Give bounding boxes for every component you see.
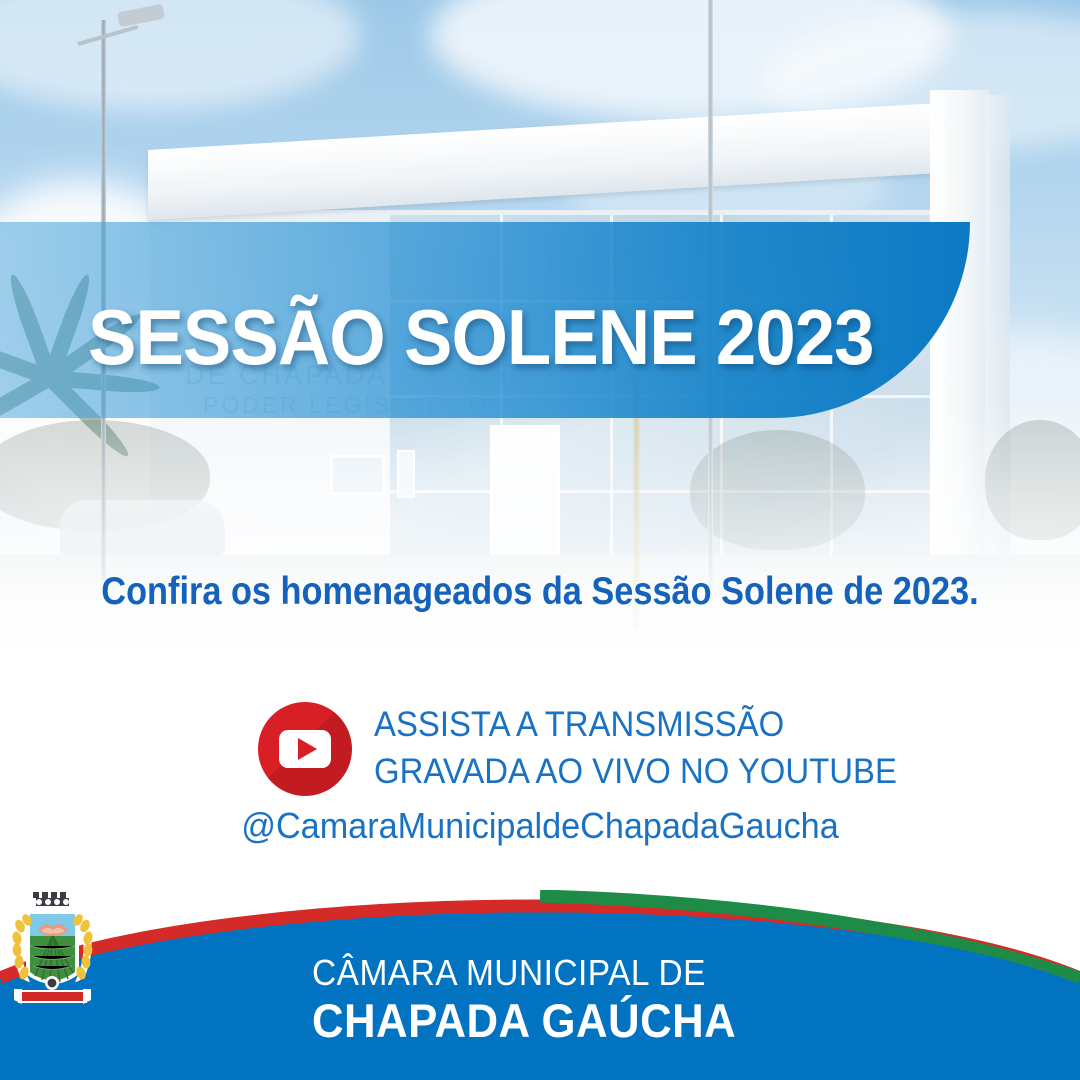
footer-brand-text: CÂMARA MUNICIPAL DE CHAPADA GAÚCHA	[312, 955, 768, 1044]
page-title: SESSÃO SOLENE 2023	[88, 292, 874, 383]
youtube-play-icon[interactable]	[258, 702, 352, 796]
youtube-cta-line-1: ASSISTA A TRANSMISSÃO	[374, 702, 897, 749]
footer-brand-line-1: CÂMARA MUNICIPAL DE	[312, 955, 736, 991]
poster-canvas: DE CHAPADA GAÚCHA PODER LEGISLATIVO SESS…	[0, 0, 1080, 1080]
youtube-handle[interactable]: @CamaraMunicipaldeChapadaGaucha	[27, 805, 1053, 847]
footer-banner: CÂMARA MUNICIPAL DE CHAPADA GAÚCHA	[0, 890, 1080, 1080]
play-triangle-icon	[298, 738, 317, 760]
youtube-cta-row[interactable]: ASSISTA A TRANSMISSÃO GRAVADA AO VIVO NO…	[258, 702, 930, 796]
subtitle-text: Confira os homenageados da Sessão Solene…	[65, 570, 1015, 614]
footer-brand-line-2: CHAPADA GAÚCHA	[312, 997, 736, 1044]
footer-brand-block: CÂMARA MUNICIPAL DE CHAPADA GAÚCHA	[0, 890, 1080, 1080]
coat-of-arms-icon	[0, 890, 105, 1008]
youtube-cta-line-2: GRAVADA AO VIVO NO YOUTUBE	[374, 749, 897, 796]
youtube-cta-text: ASSISTA A TRANSMISSÃO GRAVADA AO VIVO NO…	[374, 702, 930, 795]
